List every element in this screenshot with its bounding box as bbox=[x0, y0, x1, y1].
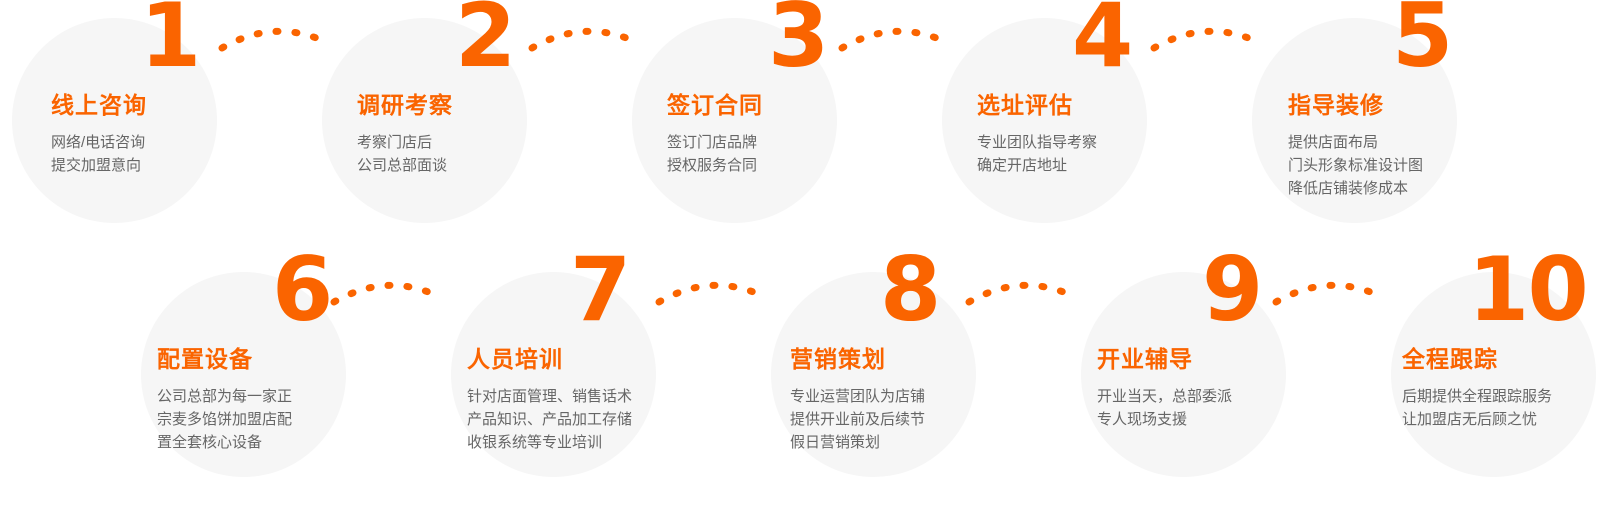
step-6-text: 配置设备 公司总部为每一家正 宗麦多馅饼加盟店配 置全套核心设备 bbox=[157, 348, 292, 454]
connector-2-3-arc bbox=[528, 22, 640, 54]
connector-4-5-arc bbox=[1150, 22, 1262, 54]
step-6-desc-line: 置全套核心设备 bbox=[157, 431, 292, 454]
step-1-desc-line: 提交加盟意向 bbox=[51, 154, 147, 177]
step-2-desc-line: 考察门店后 bbox=[357, 131, 453, 154]
step-7-desc-line: 针对店面管理、销售话术 bbox=[467, 385, 632, 408]
step-10-desc-line: 后期提供全程跟踪服务 bbox=[1402, 385, 1552, 408]
step-3-text: 签订合同 签订门店品牌 授权服务合同 bbox=[667, 94, 763, 177]
step-9-desc-line: 专人现场支援 bbox=[1097, 408, 1232, 431]
step-7-desc-line: 收银系统等专业培训 bbox=[467, 431, 632, 454]
step-4-text: 选址评估 专业团队指导考察 确定开店地址 bbox=[977, 94, 1097, 177]
step-9-number: 9 bbox=[1202, 246, 1261, 334]
step-5-desc-line: 提供店面布局 bbox=[1288, 131, 1423, 154]
step-10-desc: 后期提供全程跟踪服务 让加盟店无后顾之忧 bbox=[1402, 385, 1552, 431]
connector-9-10-arc bbox=[1272, 276, 1384, 308]
step-3-number: 3 bbox=[768, 0, 827, 80]
connector-7-8-arc bbox=[655, 276, 767, 308]
step-5-desc-line: 降低店铺装修成本 bbox=[1288, 177, 1423, 200]
step-8-desc-line: 提供开业前及后续节 bbox=[790, 408, 925, 431]
step-10-number: 10 bbox=[1468, 246, 1587, 334]
franchise-process-flowchart: 1 线上咨询 网络/电话咨询 提交加盟意向 2 调研考察 考察门店后 公司总部面… bbox=[0, 0, 1606, 508]
step-8-text: 营销策划 专业运营团队为店铺 提供开业前及后续节 假日营销策划 bbox=[790, 348, 925, 454]
step-4-desc-line: 专业团队指导考察 bbox=[977, 131, 1097, 154]
step-4-desc: 专业团队指导考察 确定开店地址 bbox=[977, 131, 1097, 177]
connector-3-4-arc bbox=[838, 22, 950, 54]
step-3-title: 签订合同 bbox=[667, 94, 763, 117]
step-9-text: 开业辅导 开业当天，总部委派 专人现场支援 bbox=[1097, 348, 1232, 431]
step-6-desc-line: 公司总部为每一家正 bbox=[157, 385, 292, 408]
connector-8-9-arc bbox=[965, 276, 1077, 308]
step-3-desc: 签订门店品牌 授权服务合同 bbox=[667, 131, 763, 177]
step-10-text: 全程跟踪 后期提供全程跟踪服务 让加盟店无后顾之忧 bbox=[1402, 348, 1552, 431]
step-5-text: 指导装修 提供店面布局 门头形象标准设计图 降低店铺装修成本 bbox=[1288, 94, 1423, 200]
step-4-desc-line: 确定开店地址 bbox=[977, 154, 1097, 177]
step-6-number: 6 bbox=[272, 246, 331, 334]
step-5-desc-line: 门头形象标准设计图 bbox=[1288, 154, 1423, 177]
step-2-desc: 考察门店后 公司总部面谈 bbox=[357, 131, 453, 177]
step-5-number: 5 bbox=[1392, 0, 1451, 80]
step-2-desc-line: 公司总部面谈 bbox=[357, 154, 453, 177]
step-7-title: 人员培训 bbox=[467, 348, 632, 371]
step-10-desc-line: 让加盟店无后顾之忧 bbox=[1402, 408, 1552, 431]
step-8-desc-line: 假日营销策划 bbox=[790, 431, 925, 454]
step-1-number: 1 bbox=[140, 0, 199, 80]
step-4-number: 4 bbox=[1072, 0, 1131, 80]
step-2-title: 调研考察 bbox=[357, 94, 453, 117]
step-6-desc-line: 宗麦多馅饼加盟店配 bbox=[157, 408, 292, 431]
step-7-desc: 针对店面管理、销售话术 产品知识、产品加工存储 收银系统等专业培训 bbox=[467, 385, 632, 454]
step-6-title: 配置设备 bbox=[157, 348, 292, 371]
step-6-desc: 公司总部为每一家正 宗麦多馅饼加盟店配 置全套核心设备 bbox=[157, 385, 292, 454]
step-1-text: 线上咨询 网络/电话咨询 提交加盟意向 bbox=[51, 94, 147, 177]
step-3-desc-line: 签订门店品牌 bbox=[667, 131, 763, 154]
step-7-text: 人员培训 针对店面管理、销售话术 产品知识、产品加工存储 收银系统等专业培训 bbox=[467, 348, 632, 454]
step-9-title: 开业辅导 bbox=[1097, 348, 1232, 371]
step-7-desc-line: 产品知识、产品加工存储 bbox=[467, 408, 632, 431]
step-10-title: 全程跟踪 bbox=[1402, 348, 1552, 371]
step-8-number: 8 bbox=[880, 246, 939, 334]
step-3-desc-line: 授权服务合同 bbox=[667, 154, 763, 177]
step-2-text: 调研考察 考察门店后 公司总部面谈 bbox=[357, 94, 453, 177]
step-8-desc-line: 专业运营团队为店铺 bbox=[790, 385, 925, 408]
step-4-title: 选址评估 bbox=[977, 94, 1097, 117]
connector-6-7-arc bbox=[330, 276, 442, 308]
step-1-desc: 网络/电话咨询 提交加盟意向 bbox=[51, 131, 147, 177]
step-5-title: 指导装修 bbox=[1288, 94, 1423, 117]
step-8-desc: 专业运营团队为店铺 提供开业前及后续节 假日营销策划 bbox=[790, 385, 925, 454]
connector-1-2-arc bbox=[218, 22, 330, 54]
step-1-title: 线上咨询 bbox=[51, 94, 147, 117]
step-5-desc: 提供店面布局 门头形象标准设计图 降低店铺装修成本 bbox=[1288, 131, 1423, 200]
step-9-desc: 开业当天，总部委派 专人现场支援 bbox=[1097, 385, 1232, 431]
step-8-title: 营销策划 bbox=[790, 348, 925, 371]
step-2-number: 2 bbox=[455, 0, 514, 80]
step-7-number: 7 bbox=[570, 246, 629, 334]
step-1-desc-line: 网络/电话咨询 bbox=[51, 131, 147, 154]
step-9-desc-line: 开业当天，总部委派 bbox=[1097, 385, 1232, 408]
